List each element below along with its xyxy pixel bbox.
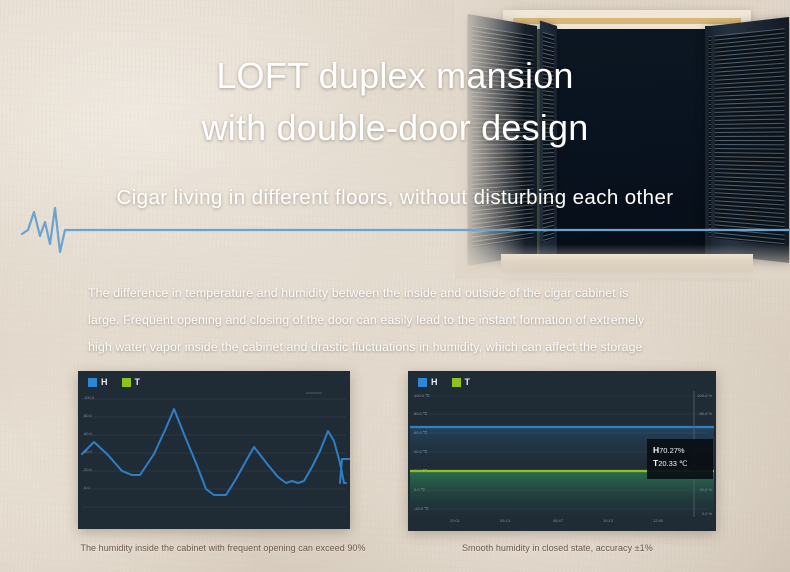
chart-right-tooltip: H70.27% T20.33 ℃ — [647, 439, 713, 479]
headline-block: LOFT duplex mansion with double-door des… — [0, 50, 790, 154]
chart-right-caption: Smooth humidity in closed state, accurac… — [462, 543, 722, 553]
description-paragraph: The difference in temperature and humidi… — [88, 280, 756, 361]
legend-item-h: H — [418, 377, 438, 387]
chart-left-ytick-3: 60.0 — [84, 431, 92, 436]
chart-right-ytick-left-2: 80.0 ℃ — [414, 411, 427, 416]
chart-left-caption: The humidity inside the cabinet with fre… — [63, 543, 383, 553]
tooltip-temperature-value: 20.33 ℃ — [658, 459, 687, 468]
legend-item-t: T — [452, 377, 471, 387]
legend-label-h: H — [431, 377, 438, 387]
chart-right-ytick-left-7: -20.0 ℃ — [414, 506, 429, 511]
chart-right-ytick-left-5: 20.0 ℃ — [414, 468, 427, 473]
chart-right-xtick-2: 05:13 — [500, 518, 510, 523]
paragraph-line-3: high water vapor inside the cabinet and … — [88, 334, 756, 361]
chart-right-xtick-4: 10:13 — [603, 518, 613, 523]
tooltip-humidity-value: 70.27% — [659, 446, 684, 455]
chart-left-ytick-6: 0.0 — [84, 485, 90, 490]
chart-left-ytick-5: 20.0 — [84, 467, 92, 472]
legend-label-t: T — [135, 377, 141, 387]
legend-item-h: H — [88, 377, 108, 387]
chart-left-plot — [78, 371, 350, 529]
chart-right-ytick-left-6: 0.0 ℃ — [414, 487, 425, 492]
chart-right-ytick-right-6: 0.0 % — [702, 511, 712, 516]
legend-swatch-h-icon — [418, 378, 427, 387]
chart-left-legend: H T — [88, 377, 140, 387]
chart-right-xtick-5: 12:50 — [653, 518, 663, 523]
legend-label-t: T — [465, 377, 471, 387]
chart-right-xtick-1: 20:01 — [450, 518, 460, 523]
legend-item-t: T — [122, 377, 141, 387]
headline-line-2: with double-door design — [0, 102, 790, 154]
chart-right-ytick-left-4: 40.0 ℃ — [414, 449, 427, 454]
legend-swatch-t-icon — [122, 378, 131, 387]
chart-right-legend: H T — [418, 377, 470, 387]
chart-right-ytick-right-5: 20.0 % — [700, 487, 712, 492]
chart-right-ytick-left-1: 100.0 ℃ — [414, 393, 430, 398]
chart-left-ytick-4: 40.0 — [84, 449, 92, 454]
paragraph-line-1: The difference in temperature and humidi… — [88, 280, 756, 307]
chart-right-ytick-right-1: 100.0 % — [697, 393, 712, 398]
chart-left-ytick-1: 100.0 — [84, 395, 94, 400]
tooltip-temperature-row: T20.33 ℃ — [653, 457, 707, 470]
chart-stable-humidity: H T — [408, 371, 716, 531]
chart-left-humidity-series — [82, 409, 346, 495]
chart-right-ytick-left-3: 60.0 ℃ — [414, 430, 427, 435]
chart-left-ytick-2: 80.0 — [84, 413, 92, 418]
legend-swatch-h-icon — [88, 378, 97, 387]
chart-right-ytick-right-2: 80.0 % — [700, 411, 712, 416]
chart-right-xtick-3: 08:47 — [553, 518, 563, 523]
chart-left-gridlines — [82, 399, 346, 507]
legend-swatch-t-icon — [452, 378, 461, 387]
paragraph-line-2: large. Frequent opening and closing of t… — [88, 307, 756, 334]
legend-label-h: H — [101, 377, 108, 387]
headline-line-1: LOFT duplex mansion — [0, 50, 790, 102]
chart-fluctuating-humidity: H T 100.0 80.0 60.0 40.0 20.0 0.0 — [78, 371, 350, 529]
tooltip-humidity-row: H70.27% — [653, 444, 707, 457]
pulse-waveform-icon — [14, 200, 790, 260]
